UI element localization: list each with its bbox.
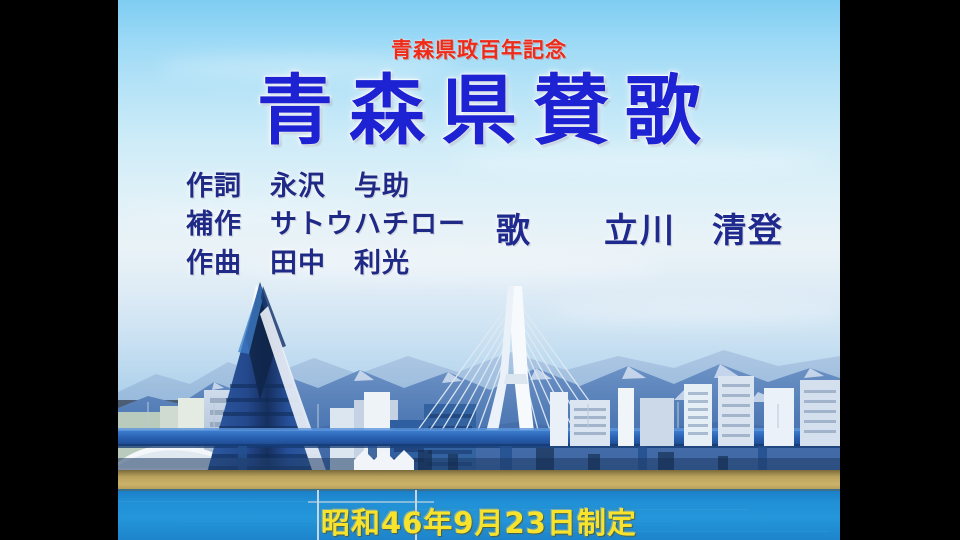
- credit-lyricist: 作詞 永沢 与助: [186, 168, 466, 206]
- enactment-date: 昭和46年9月23日制定: [118, 500, 840, 540]
- page-title: 青森県賛歌: [118, 72, 840, 150]
- video-frame: 青森県政百年記念 青森県賛歌 作詞 永沢 与助 補作 サトウハチロー 作曲 田中…: [0, 0, 960, 540]
- commemoration-subtitle: 青森県政百年記念: [118, 34, 840, 64]
- credit-singer: 歌 立川 清登: [496, 203, 784, 252]
- letterbox-right: [840, 0, 960, 540]
- title-overlay: 青森県政百年記念 青森県賛歌 作詞 永沢 与助 補作 サトウハチロー 作曲 田中…: [118, 0, 840, 540]
- credit-supplementary-lyricist: 補作 サトウハチロー: [186, 206, 466, 244]
- credit-composer: 作曲 田中 利光: [186, 245, 466, 283]
- credits-block: 作詞 永沢 与助 補作 サトウハチロー 作曲 田中 利光: [186, 168, 466, 283]
- letterbox-left: [0, 0, 118, 540]
